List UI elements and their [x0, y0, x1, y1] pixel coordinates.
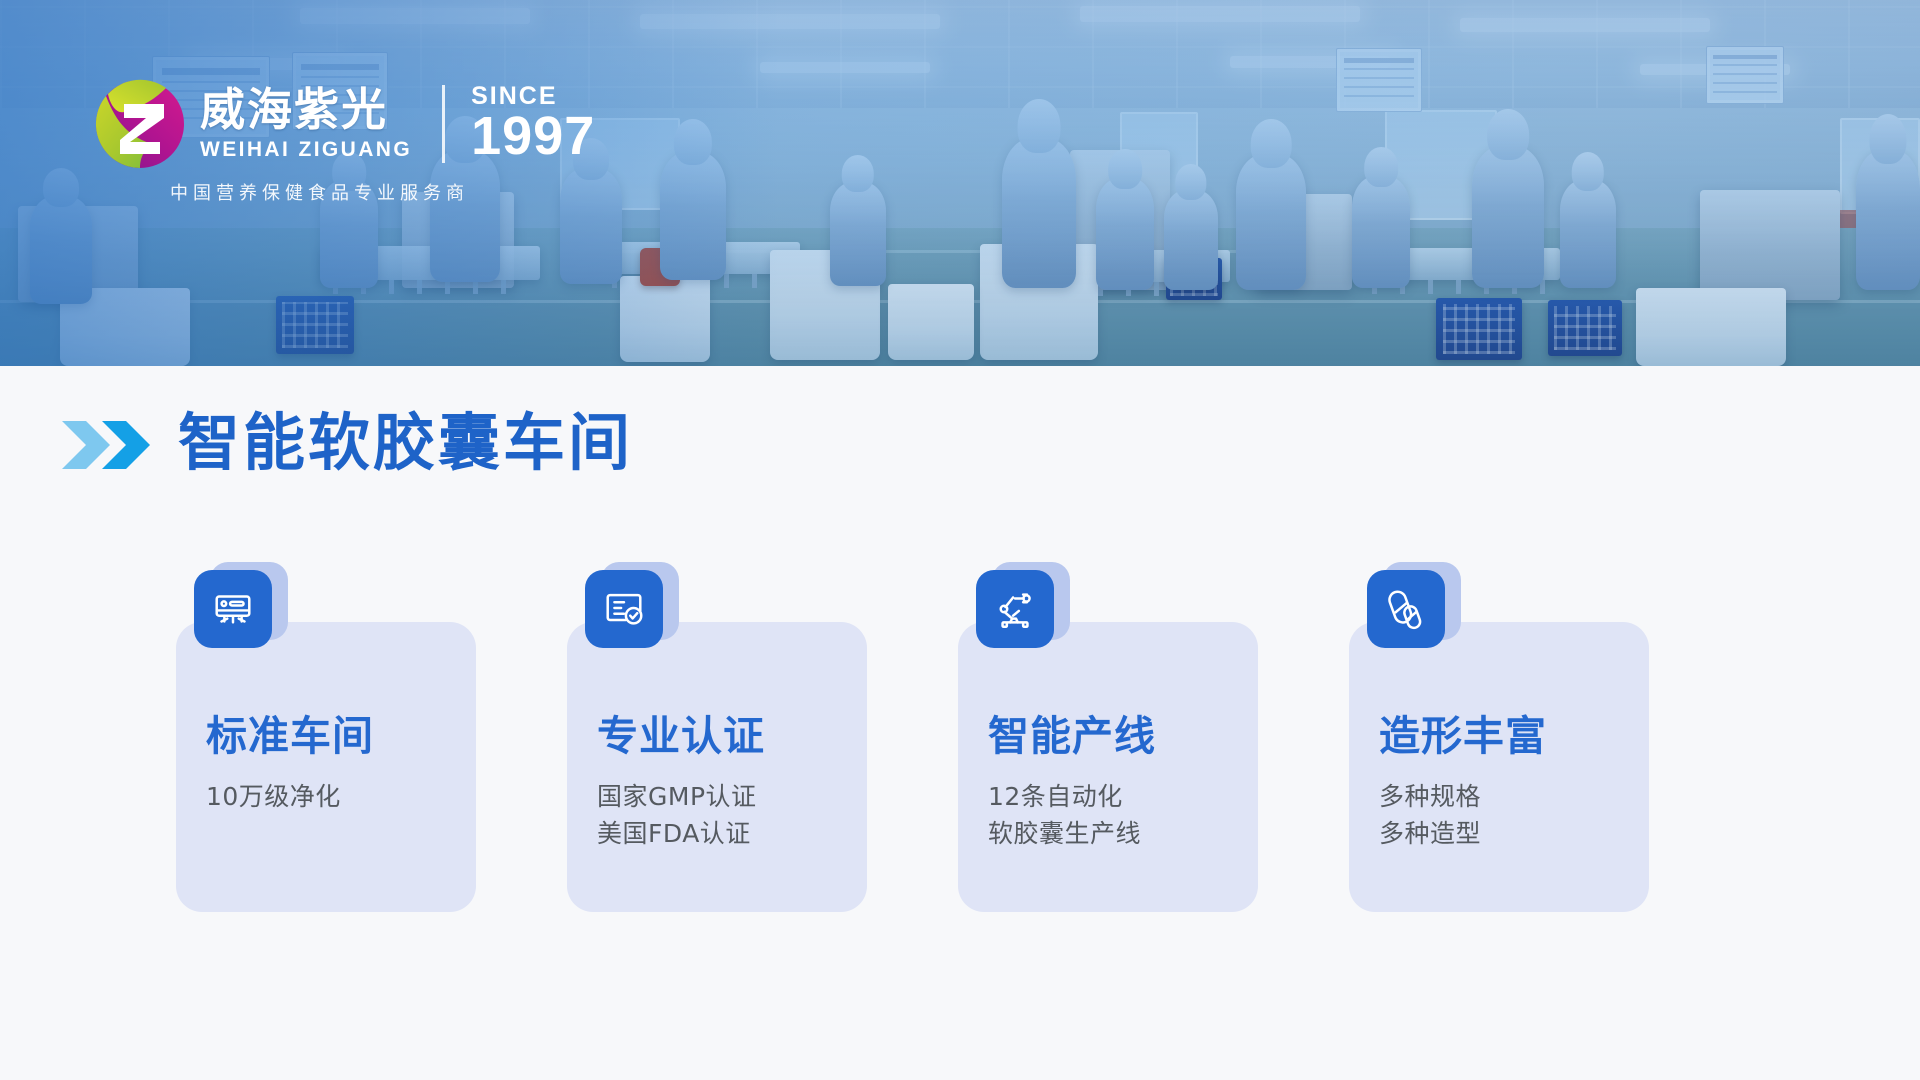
card-subtitle: 多种规格 多种造型 [1379, 778, 1633, 853]
card-content: 标准车间 10万级净化 [206, 714, 460, 815]
card-title: 造形丰富 [1379, 714, 1633, 760]
page-root: 威海紫光 WEIHAI ZIGUANG SINCE 1997 中国营养保健食品专… [0, 0, 1920, 1080]
card-subtitle: 国家GMP认证 美国FDA认证 [597, 778, 851, 853]
since-year: 1997 [471, 109, 595, 164]
logo-wordmark: 威海紫光 WEIHAI ZIGUANG [200, 86, 412, 162]
card-icon-wrap [1367, 570, 1461, 664]
certificate-verified-icon [585, 570, 663, 648]
air-conditioner-icon [194, 570, 272, 648]
brand-tagline: 中国营养保健食品专业服务商 [170, 179, 595, 205]
chevron-right-icon [62, 421, 110, 469]
feature-card-standard-workshop[interactable]: 标准车间 10万级净化 [176, 622, 476, 912]
card-content: 智能产线 12条自动化 软胶囊生产线 [988, 714, 1242, 853]
card-title: 标准车间 [206, 714, 460, 760]
page-title: 智能软胶囊车间 [178, 412, 633, 474]
hero-banner: 威海紫光 WEIHAI ZIGUANG SINCE 1997 中国营养保健食品专… [0, 0, 1920, 366]
card-subtitle: 10万级净化 [206, 778, 460, 816]
card-content: 专业认证 国家GMP认证 美国FDA认证 [597, 714, 851, 853]
robot-arm-icon [976, 570, 1054, 648]
logo-row: 威海紫光 WEIHAI ZIGUANG SINCE 1997 [94, 78, 595, 170]
feature-card-certification[interactable]: 专业认证 国家GMP认证 美国FDA认证 [567, 622, 867, 912]
brand-name-cn: 威海紫光 [200, 86, 412, 133]
card-icon-wrap [976, 570, 1070, 664]
ziguang-z-logo-icon [94, 78, 186, 170]
brand-logo-block[interactable]: 威海紫光 WEIHAI ZIGUANG SINCE 1997 中国营养保健食品专… [94, 78, 595, 205]
card-content: 造形丰富 多种规格 多种造型 [1379, 714, 1633, 853]
feature-card-list: 标准车间 10万级净化 专 [176, 622, 1649, 912]
card-title: 智能产线 [988, 714, 1242, 760]
logo-divider [442, 85, 445, 163]
brand-name-en: WEIHAI ZIGUANG [200, 138, 412, 162]
card-icon-wrap [585, 570, 679, 664]
feature-card-shapes[interactable]: 造形丰富 多种规格 多种造型 [1349, 622, 1649, 912]
softgel-capsule-icon [1367, 570, 1445, 648]
card-title: 专业认证 [597, 714, 851, 760]
double-chevron-icon [58, 417, 154, 473]
card-icon-wrap [194, 570, 288, 664]
since-block: SINCE 1997 [471, 84, 595, 164]
feature-card-smart-line[interactable]: 智能产线 12条自动化 软胶囊生产线 [958, 622, 1258, 912]
card-subtitle: 12条自动化 软胶囊生产线 [988, 778, 1242, 853]
section-heading: 智能软胶囊车间 [58, 412, 633, 474]
